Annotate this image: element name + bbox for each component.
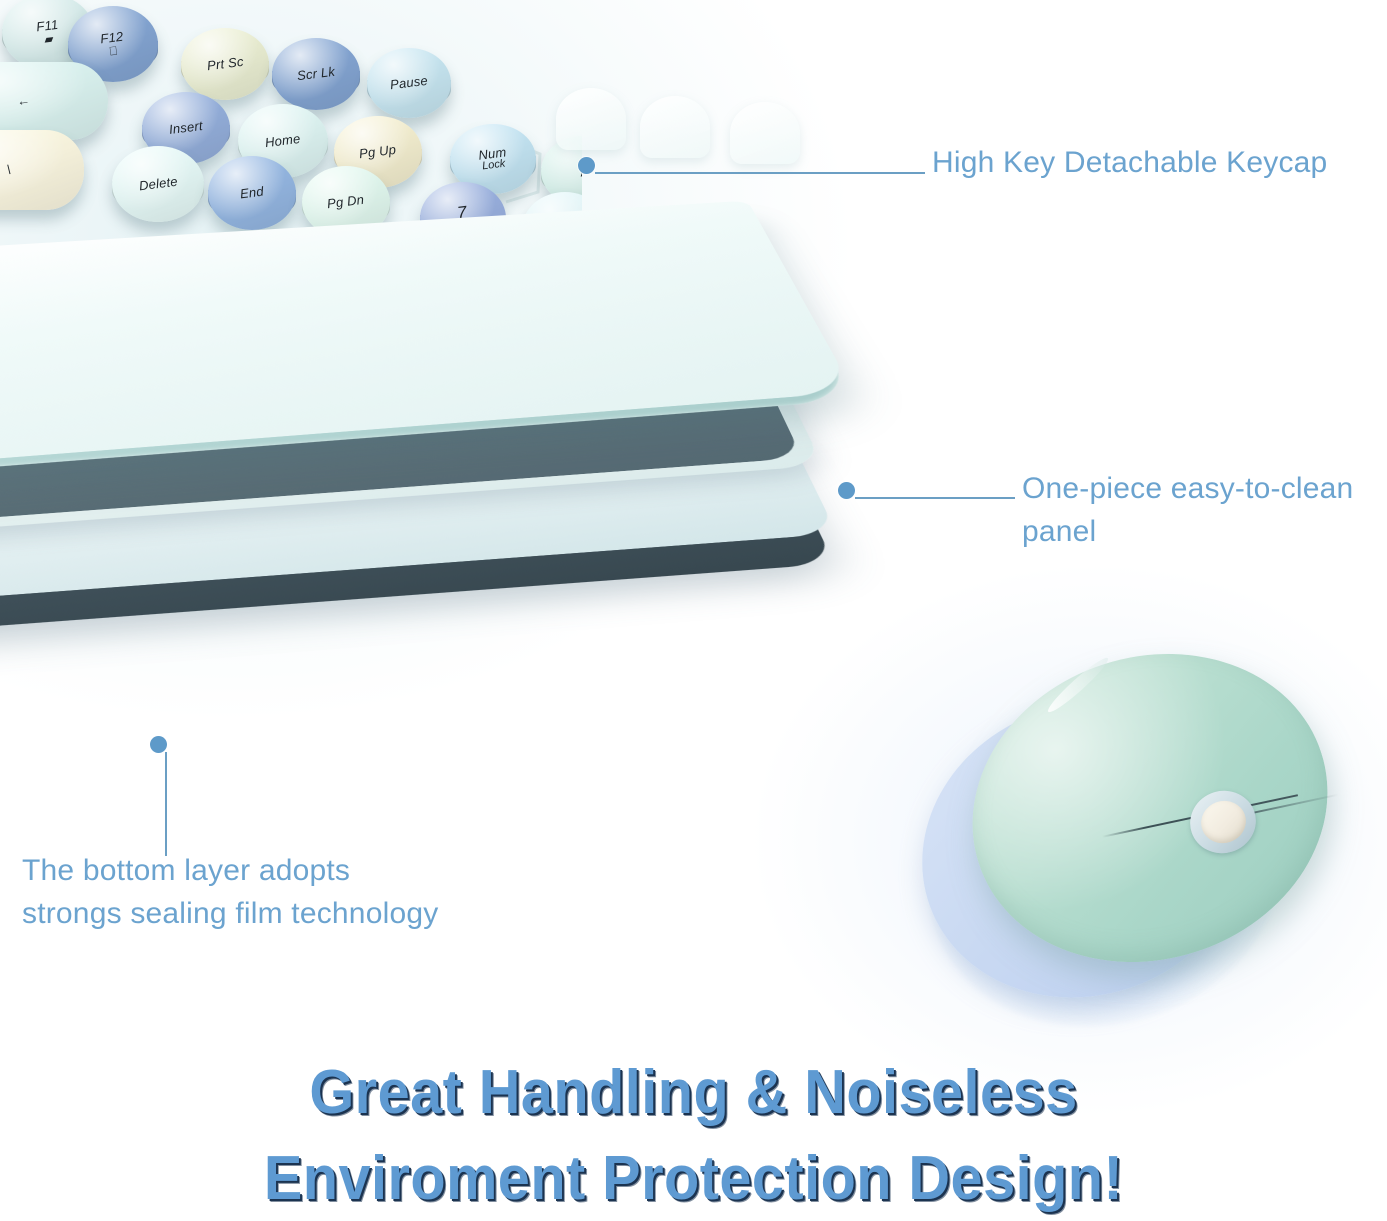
keycap-legend: 7Home (447, 202, 480, 234)
keycap-legend: F12⎕ (100, 30, 126, 58)
callout-text-high-key-detachable-keycap: High Key Detachable Keycap (932, 142, 1327, 185)
callout-dot-high-key-detachable-keycap (578, 157, 595, 174)
callout-line-bottom-layer-sealing-film (165, 752, 167, 856)
keycap-backslash[interactable]: \ (0, 130, 84, 210)
keycap-num5[interactable]: 5 (504, 248, 592, 322)
callout-dot-bottom-layer-sealing-film (150, 736, 167, 753)
keycap-legend: End (239, 185, 264, 201)
keycap-legend: + (754, 275, 766, 294)
keycap-legend: F11▰ (35, 18, 60, 46)
headline: Great Handling & Noiseless Enviroment Pr… (0, 1050, 1387, 1221)
keycap-legend: NumLock (478, 145, 509, 172)
keycap-face (0, 130, 84, 210)
keycap-backspace[interactable]: ← (0, 62, 108, 140)
keycap-minus[interactable]: - (727, 152, 811, 218)
keycap-glyph-icon: ▶ (640, 301, 651, 314)
callout-text-one-piece-easy-to-clean-panel: One-piece easy-to-clean panel (1022, 468, 1353, 553)
keycap-glyph-icon: ▲ (559, 231, 572, 244)
keycap-primary-label: 5 (542, 276, 554, 295)
callout-dot-one-piece-easy-to-clean-panel (838, 482, 855, 499)
wireless-mouse (900, 645, 1330, 1045)
keycap-num9[interactable]: 9Pg Up (620, 200, 706, 272)
keycap-glyph-icon: ◀ (437, 280, 448, 293)
switch-housing (53, 291, 86, 307)
keycap-legend: 5 (542, 276, 554, 295)
headline-line-1: Great Handling & Noiseless (49, 1050, 1339, 1136)
keycap-primary-label: ← (17, 93, 32, 108)
keycap-primary-label: + (754, 275, 766, 294)
headline-line-2: Enviroment Protection Design! (49, 1136, 1339, 1221)
keycap-scrlk[interactable]: Scr Lk (272, 38, 360, 110)
keycap-legend: 9Pg Up (646, 220, 680, 252)
keycap-prtsc[interactable]: Prt Sc (181, 28, 269, 100)
callout-line-one-piece-easy-to-clean-panel (855, 497, 1015, 499)
keycap-pause[interactable]: Pause (367, 48, 451, 118)
keycap-legend: ← (17, 93, 32, 108)
callout-line-high-key-detachable-keycap (595, 172, 925, 174)
keycap-pgdn[interactable]: Pg Dn (302, 166, 390, 238)
product-feature-image: F11▰F12⎕Prt ScScr LkPause←\InsertHomePg … (0, 0, 1387, 1215)
keycap-primary-label: End (239, 185, 264, 201)
keyboard-assembly: F11▰F12⎕Prt ScScr LkPause←\InsertHomePg … (0, 0, 930, 870)
keycap-delete[interactable]: Delete (112, 146, 204, 222)
callout-text-bottom-layer-sealing-film: The bottom layer adopts strongs sealing … (22, 850, 438, 935)
keycap-end[interactable]: End (208, 156, 296, 230)
